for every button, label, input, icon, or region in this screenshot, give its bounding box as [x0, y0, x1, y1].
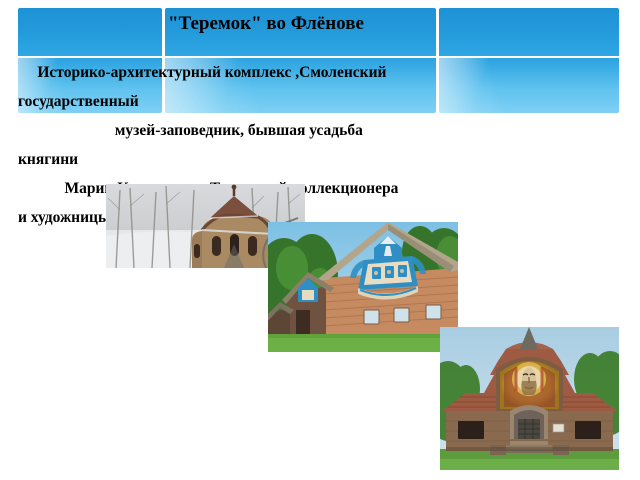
- table-cell-r1c1: [18, 8, 162, 56]
- presentation-slide: "Теремок" во Флёнове Историко-архитектур…: [0, 0, 640, 480]
- body-line: княгини: [18, 145, 636, 174]
- table-cell-r1c3: [439, 8, 619, 56]
- body-line: Историко-архитектурный комплекс ,Смоленс…: [18, 58, 636, 87]
- church-holy-spirit-photo: [440, 327, 619, 470]
- slide-title: "Теремок" во Флёнове: [168, 10, 436, 37]
- body-line: музей-заповедник, бывшая усадьба: [18, 116, 636, 145]
- body-line: государственный: [18, 87, 636, 116]
- teremok-house-photo: [268, 222, 458, 352]
